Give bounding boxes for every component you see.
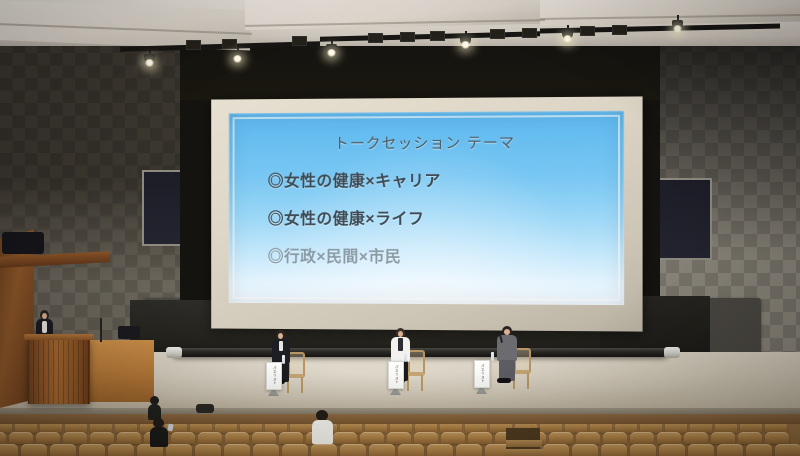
panelist-left-placard: パネリスト <box>266 362 282 390</box>
ceiling-fixture-9 <box>580 26 595 36</box>
speaker-podium <box>28 338 90 404</box>
spotlight-6 <box>672 20 683 29</box>
podium-top-surface <box>24 334 94 340</box>
stage-monitor <box>118 326 140 339</box>
panelist-right-water-bottle <box>491 352 494 361</box>
spotlight-3 <box>326 44 337 53</box>
ceiling-fixture-2 <box>222 39 237 49</box>
panelist-left-placard-text: パネリスト <box>272 363 277 385</box>
truss-cap-left <box>166 347 182 358</box>
panelist-center-water-bottle <box>404 353 407 362</box>
side-lectern-table <box>90 340 154 402</box>
panelist-center-inner-top <box>398 338 403 351</box>
panelist-center-placard: パネリスト <box>388 361 404 389</box>
seat-row-2 <box>0 432 800 444</box>
ceiling-fixture-7 <box>490 29 505 39</box>
slide-title: トークセッション テーマ <box>254 131 598 154</box>
floor-equipment-bag <box>196 404 214 413</box>
panelist-right-shoes <box>497 378 511 383</box>
projection-screen-surface: トークセッション テーマ ◎女性の健康×キャリア ◎女性の健康×ライフ ◎行政×… <box>229 111 624 305</box>
panelist-left-water-bottle <box>282 355 285 364</box>
spotlight-1 <box>144 54 155 63</box>
panelist-right-placard: パネリスト <box>474 360 490 388</box>
ceiling-panel-right <box>540 0 800 26</box>
slide-bullet-list: ◎女性の健康×キャリア ◎女性の健康×ライフ ◎行政×民間×市民 <box>254 166 598 267</box>
panelist-right-placard-text: パネリスト <box>480 361 485 383</box>
podium-mic-stand <box>100 318 102 342</box>
slide-bullet-2: ◎女性の健康×ライフ <box>268 205 598 229</box>
ceiling-fixture-1 <box>186 40 201 50</box>
ceiling-fixture-5 <box>400 32 415 42</box>
slide-bullet-3: ◎行政×民間×市民 <box>268 243 598 268</box>
av-console <box>2 232 44 254</box>
spotlight-5 <box>562 30 573 39</box>
aisle-step-2 <box>504 449 544 456</box>
truss-cap-right <box>664 347 680 358</box>
slide-content: トークセッション テーマ ◎女性の健康×キャリア ◎女性の健康×ライフ ◎行政×… <box>229 111 624 305</box>
projection-screen-frame: トークセッション テーマ ◎女性の健康×キャリア ◎女性の健康×ライフ ◎行政×… <box>211 96 642 331</box>
moderator-shirt <box>42 321 47 333</box>
panelist-left-shirt <box>279 341 283 351</box>
aisle-step-1 <box>506 440 542 447</box>
spotlight-4 <box>460 36 471 45</box>
ceiling-fixture-6 <box>430 31 445 41</box>
audience-seating <box>0 424 800 456</box>
slide-bullet-1: ◎女性の健康×キャリア <box>268 166 598 191</box>
ceiling-fixture-4 <box>368 33 383 43</box>
podium-slats <box>28 338 90 404</box>
ceiling-fixture-8 <box>522 28 537 38</box>
ceiling-fixture-3 <box>292 36 307 46</box>
ceiling-fixture-10 <box>612 25 627 35</box>
panelist-center-placard-text: パネリスト <box>394 362 399 384</box>
spotlight-2 <box>232 50 243 59</box>
auditorium-scene: トークセッション テーマ ◎女性の健康×キャリア ◎女性の健康×ライフ ◎行政×… <box>0 0 800 456</box>
seat-row-3 <box>0 444 800 456</box>
